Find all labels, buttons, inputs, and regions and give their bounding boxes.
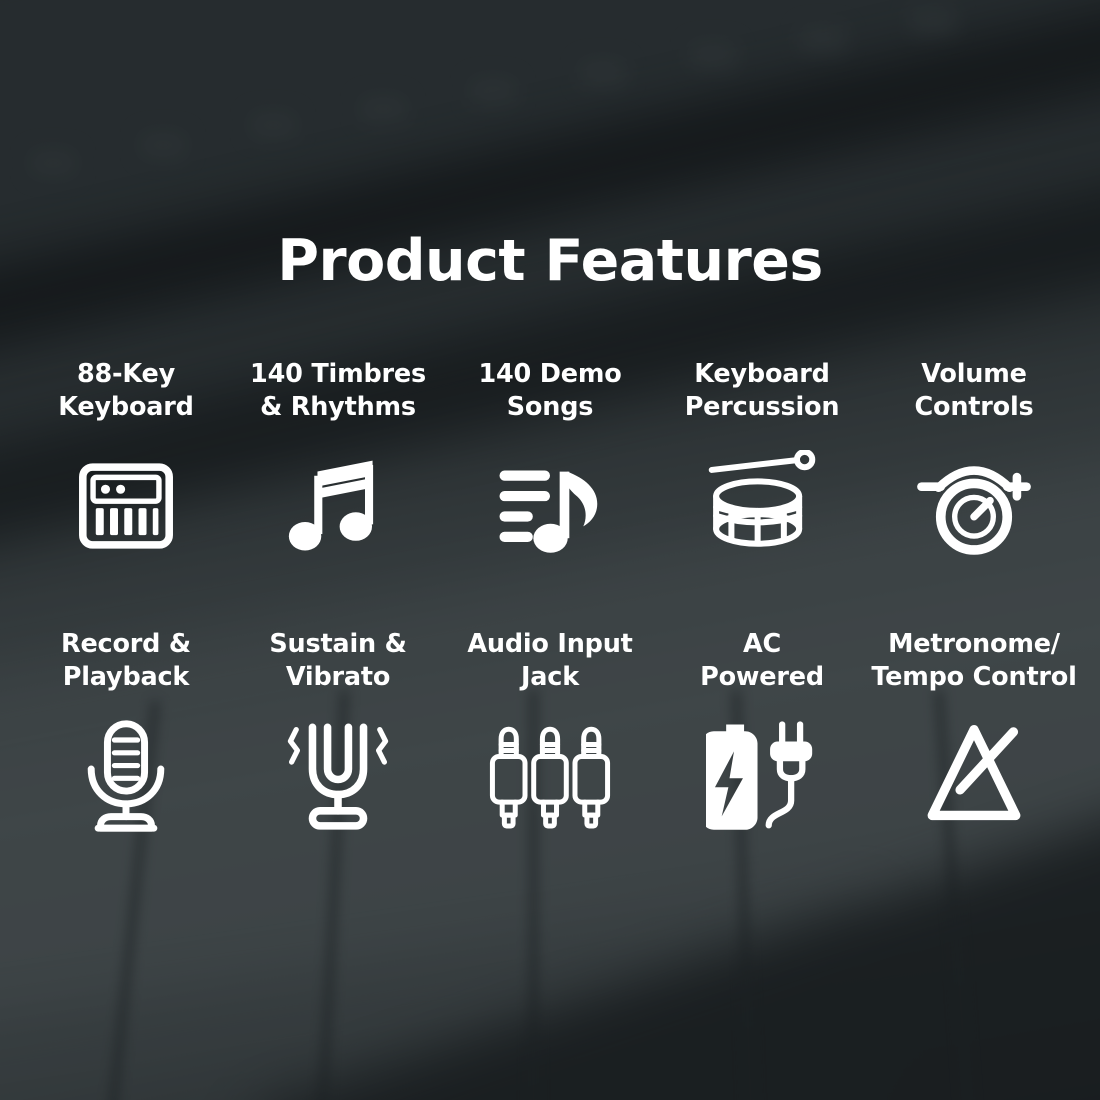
feature-label: 88-Key Keyboard [58, 358, 193, 423]
feature-item-140-timbres-rhythms: 140 Timbres & Rhythms [232, 358, 444, 566]
metronome-icon [916, 716, 1032, 836]
feature-label: AC Powered [700, 628, 824, 693]
feature-label: Keyboard Percussion [685, 358, 840, 423]
feature-item-volume-controls: Volume Controls [868, 358, 1080, 566]
feature-label: Metronome/ Tempo Control [871, 628, 1076, 693]
playlist-note-icon [492, 446, 608, 566]
feature-item-ac-powered: AC Powered [656, 628, 868, 836]
feature-item-metronome-tempo-control: Metronome/ Tempo Control [868, 628, 1080, 836]
piano-keyboard-icon [72, 446, 180, 566]
battery-plug-icon [706, 716, 818, 836]
beamed-notes-icon [284, 446, 392, 566]
feature-label: Volume Controls [915, 358, 1034, 423]
product-features-infographic: Product Features 88-Key Keyboard [0, 0, 1100, 1100]
page-title: Product Features [0, 228, 1100, 294]
features-row-2: Record & Playback [0, 628, 1100, 836]
snare-drum-icon [703, 446, 821, 566]
feature-label: Record & Playback [61, 628, 191, 693]
feature-label: Sustain & Vibrato [269, 628, 406, 693]
feature-item-keyboard-percussion: Keyboard Percussion [656, 358, 868, 566]
feature-item-audio-input-jack: Audio Input Jack [444, 628, 656, 836]
tuning-fork-vibrato-icon [280, 716, 396, 836]
features-row-1: 88-Key Keyboard [0, 358, 1100, 566]
feature-item-record-playback: Record & Playback [20, 628, 232, 836]
volume-knob-icon [915, 446, 1033, 566]
feature-label: Audio Input Jack [467, 628, 632, 693]
feature-item-sustain-vibrato: Sustain & Vibrato [232, 628, 444, 836]
feature-label: 140 Demo Songs [478, 358, 621, 423]
feature-item-140-demo-songs: 140 Demo Songs [444, 358, 656, 566]
microphone-icon [74, 716, 178, 836]
feature-label: 140 Timbres & Rhythms [250, 358, 426, 423]
audio-jack-plugs-icon [487, 716, 613, 836]
feature-item-88-key-keyboard: 88-Key Keyboard [20, 358, 232, 566]
